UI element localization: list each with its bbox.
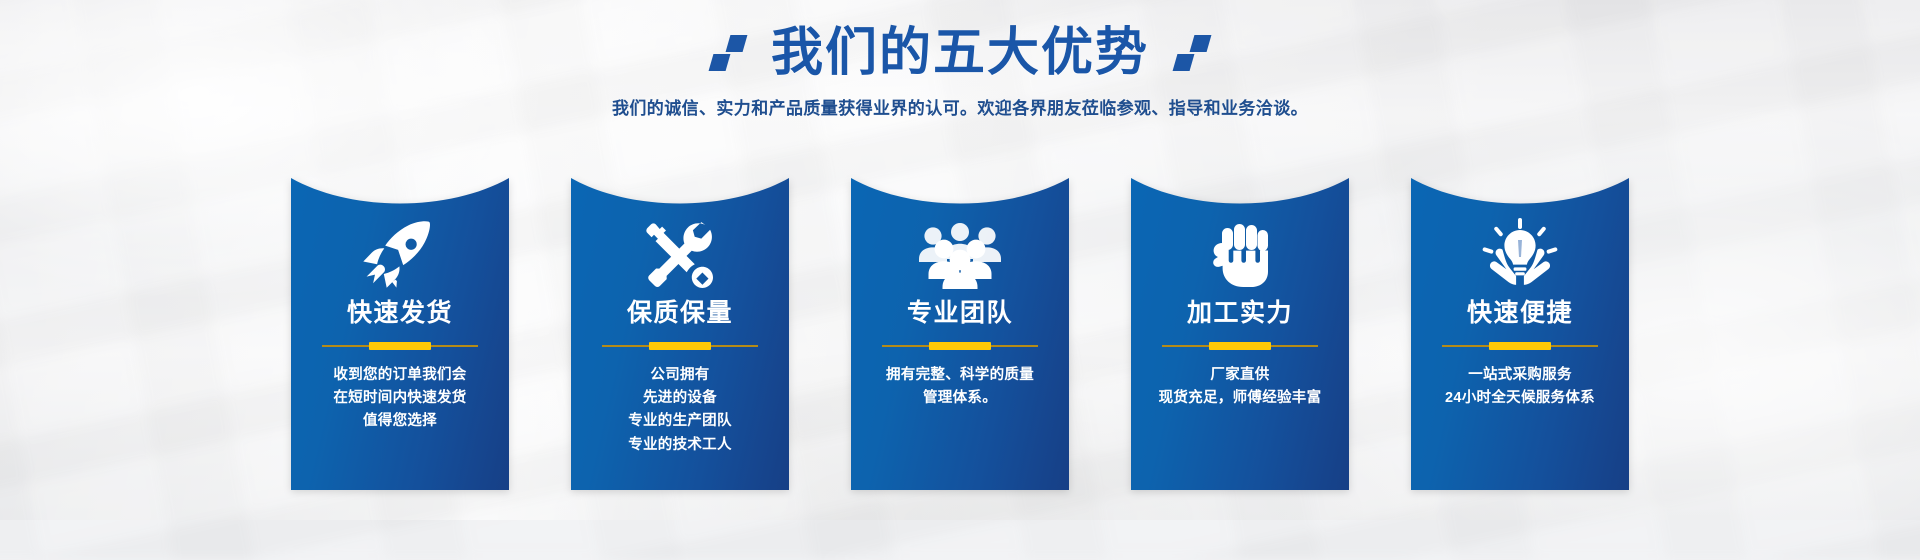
card-description: 拥有完整、科学的质量 管理体系。 [886,364,1034,411]
title-row: 我们的五大优势 [0,22,1920,84]
advantage-card[interactable]: 保质保量 公司拥有 先进的设备 专业的生产团队 专业的技术工人 [571,178,789,490]
advantage-card[interactable]: 快速便捷 一站式采购服务 24小时全天候服务体系 [1411,178,1629,490]
card-title: 快速发货 [347,300,453,328]
page-title: 我们的五大优势 [771,27,1149,79]
advantage-card[interactable]: 加工实力 厂家直供 现货充足，师傅经验丰富 [1131,178,1349,490]
wrench-screwdriver-icon [642,218,718,292]
rocket-icon [362,218,438,292]
card-title: 保质保量 [627,300,733,328]
card-title: 加工实力 [1187,300,1293,328]
page-subtitle: 我们的诚信、实力和产品质量获得业界的认可。欢迎各界朋友莅临参观、指导和业务洽谈。 [0,94,1920,119]
card-description: 公司拥有 先进的设备 专业的生产团队 专业的技术工人 [628,364,732,458]
advantage-card[interactable]: 快速发货 收到您的订单我们会 在短时间内快速发货 值得您选择 [291,178,509,490]
card-divider [1442,342,1598,350]
advantage-card-list: 快速发货 收到您的订单我们会 在短时间内快速发货 值得您选择 [0,178,1920,490]
advantage-card[interactable]: 专业团队 拥有完整、科学的质量 管理体系。 [851,178,1069,490]
double-slash-decoration-right-icon [1175,31,1209,75]
card-title: 快速便捷 [1467,300,1573,328]
card-divider [1162,342,1318,350]
lightbulb-in-hands-icon [1479,218,1561,292]
card-description: 一站式采购服务 24小时全天候服务体系 [1445,364,1595,411]
card-divider [322,342,478,350]
fist-icon [1206,218,1274,292]
card-description: 收到您的订单我们会 在短时间内快速发货 值得您选择 [333,364,466,434]
card-divider [882,342,1038,350]
double-slash-decoration-left-icon [711,31,745,75]
team-group-icon [917,218,1003,292]
card-title: 专业团队 [907,300,1013,328]
section-header: 我们的五大优势 我们的诚信、实力和产品质量获得业界的认可。欢迎各界朋友莅临参观、… [0,0,1920,119]
card-divider [602,342,758,350]
card-description: 厂家直供 现货充足，师傅经验丰富 [1159,364,1322,411]
